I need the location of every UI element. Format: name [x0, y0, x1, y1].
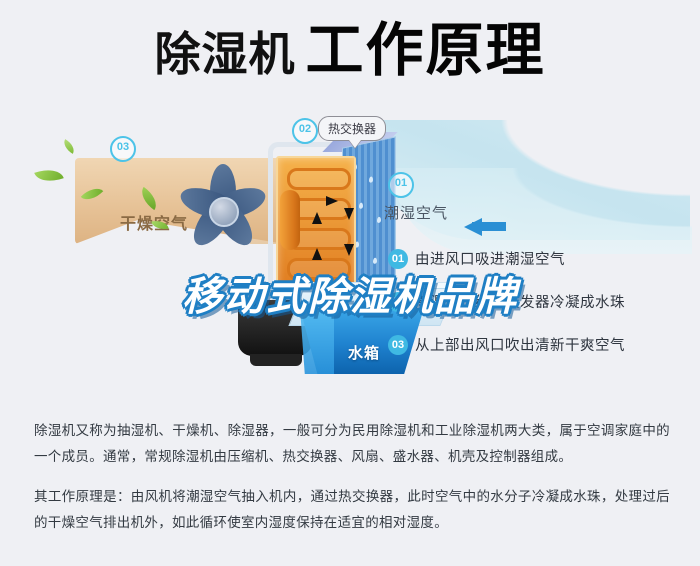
page-title: 除湿机工作原理	[0, 22, 700, 80]
paragraph-2: 其工作原理是：由风机将潮湿空气抽入机内，通过热交换器，此时空气中的水分子冷凝成水…	[34, 484, 670, 536]
compressor-base	[250, 354, 302, 366]
step-text: 从上部出风口吹出清新干爽空气	[415, 334, 625, 355]
water-tank-side	[300, 308, 334, 374]
heat-exchanger-callout: 热交换器	[318, 116, 386, 141]
infographic-page: 除湿机工作原理 干燥空气	[0, 0, 700, 566]
badge-01-humid-air: 01	[388, 172, 414, 198]
step-list: 01 由进风口吸进潮湿空气 02 潮湿空气经过蒸发器冷凝成水珠 03 从上部出风…	[388, 248, 688, 377]
flow-arrow-up	[312, 248, 322, 260]
flow-arrow-down	[344, 208, 354, 220]
list-item: 03 从上部出风口吹出清新干爽空气	[388, 334, 688, 355]
step-number: 01	[388, 249, 408, 269]
list-item: 01 由进风口吸进潮湿空气	[388, 248, 688, 269]
fan-hub	[209, 197, 239, 227]
intake-arrow-shaft	[472, 222, 506, 231]
leaf-icon	[34, 164, 64, 187]
page-title-prefix: 除湿机	[154, 28, 295, 80]
step-text: 潮湿空气经过蒸发器冷凝成水珠	[415, 291, 625, 312]
fan-icon	[170, 158, 274, 262]
flow-arrow-down	[344, 244, 354, 256]
leaf-icon	[61, 139, 78, 154]
badge-03-dry-air: 03	[110, 136, 136, 162]
humid-air-label: 潮湿空气	[384, 202, 448, 223]
paragraph-1: 除湿机又称为抽湿机、干燥机、除湿器，一般可分为民用除湿机和工业除湿机两大类，属于…	[34, 418, 670, 470]
flow-arrow-right	[326, 196, 338, 206]
water-tank-label: 水箱	[348, 342, 380, 363]
step-text: 由进风口吸进潮湿空气	[415, 248, 565, 269]
step-number: 02	[388, 292, 408, 312]
description-text: 除湿机又称为抽湿机、干燥机、除湿器，一般可分为民用除湿机和工业除湿机两大类，属于…	[34, 418, 670, 550]
accumulator-cylinder	[280, 190, 300, 250]
flow-arrow-up	[312, 212, 322, 224]
badge-02-heat-exchanger: 02	[292, 118, 318, 144]
list-item: 02 潮湿空气经过蒸发器冷凝成水珠	[388, 291, 688, 312]
step-number: 03	[388, 335, 408, 355]
diagram-illustration: 干燥空气	[0, 110, 700, 400]
page-title-main: 工作原理	[305, 18, 545, 83]
